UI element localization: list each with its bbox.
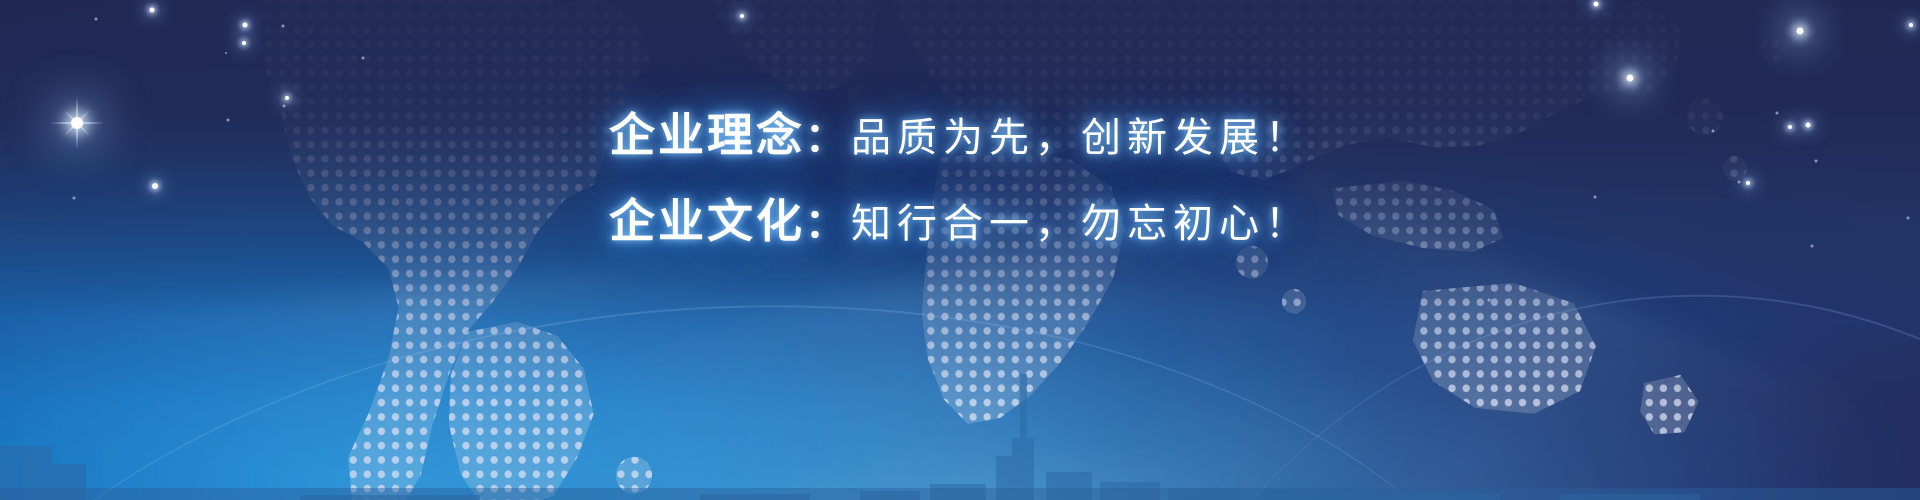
line-2-value: 知行合一，勿忘初心！ (851, 201, 1311, 247)
line-2-label: 企业文化 (609, 194, 805, 248)
line-1-label: 企业理念 (609, 108, 805, 162)
line-1-colon: ： (805, 115, 851, 161)
line-2-colon: ： (805, 201, 851, 247)
city-skyline-svg (0, 360, 1920, 500)
philosophy-line-1: 企业理念：品质为先，创新发展！ (0, 112, 1920, 158)
city-skyline (0, 360, 1920, 500)
line-1-value: 品质为先，创新发展！ (851, 115, 1311, 161)
philosophy-line-2: 企业文化：知行合一，勿忘初心！ (0, 198, 1920, 244)
philosophy-text-block: 企业理念：品质为先，创新发展！ 企业文化：知行合一，勿忘初心！ (0, 112, 1920, 244)
banner: 企业理念：品质为先，创新发展！ 企业文化：知行合一，勿忘初心！ (0, 0, 1920, 500)
